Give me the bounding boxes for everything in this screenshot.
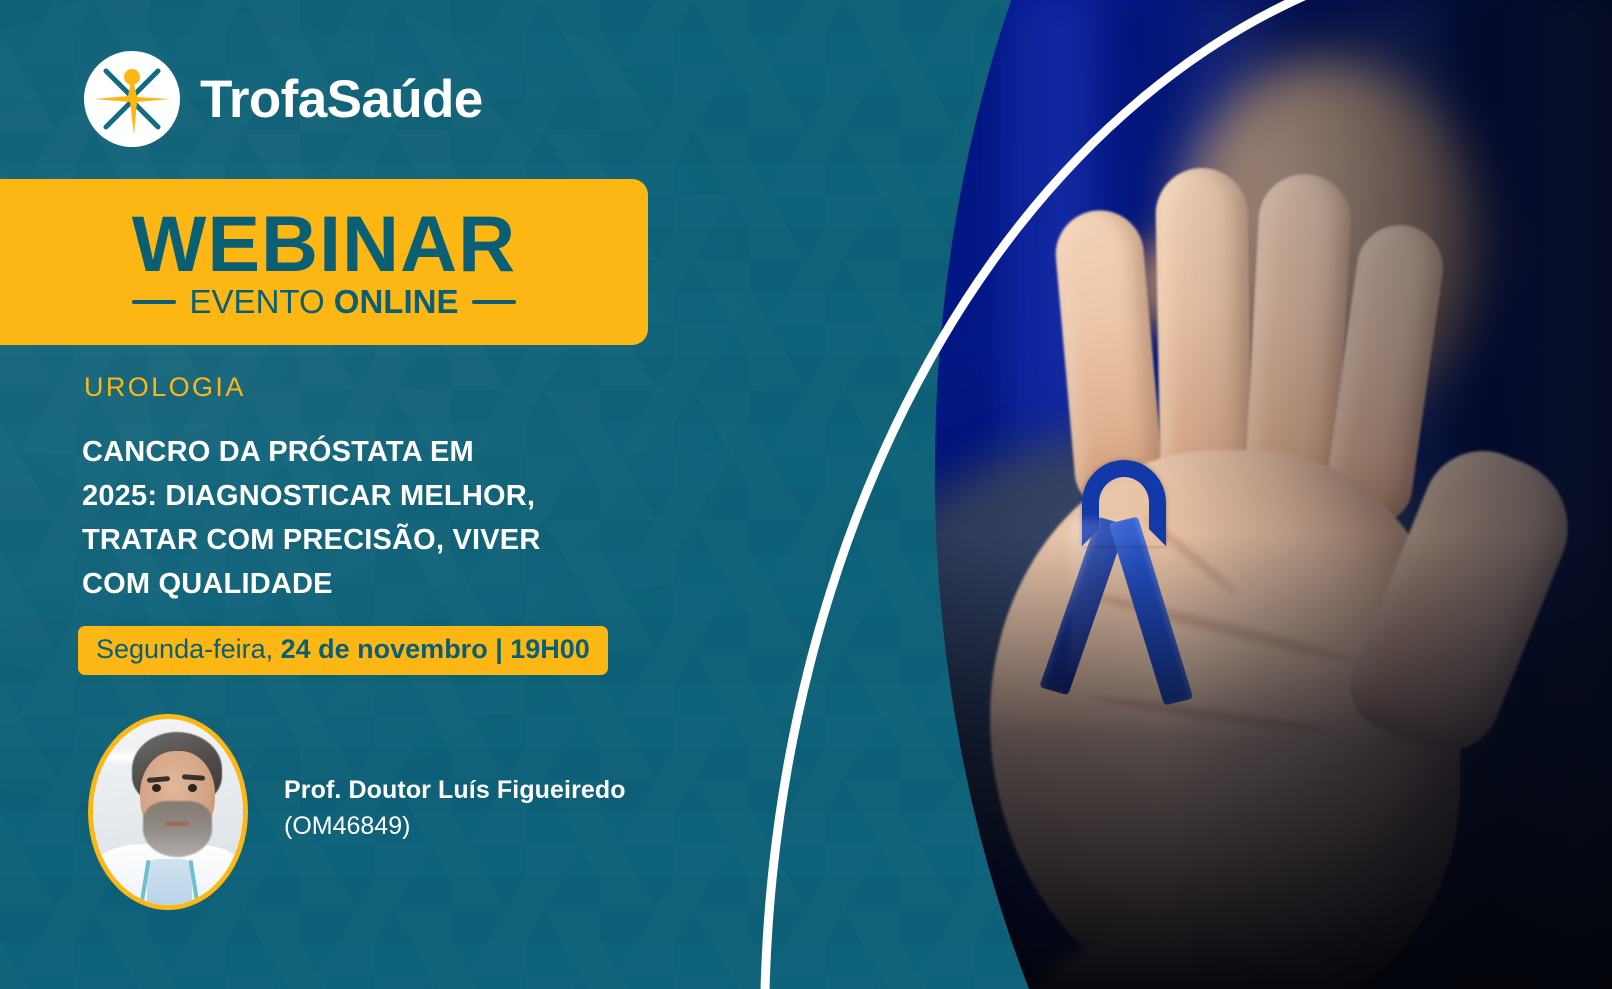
event-mode: ONLINE: [334, 283, 459, 320]
brand-logo: TrofaSaúde: [84, 51, 483, 147]
specialty-label: UROLOGIA: [84, 374, 246, 401]
avatar-beard: [143, 801, 212, 857]
event-mode-row: EVENTO ONLINE: [132, 285, 517, 318]
title-line-3: TRATAR COM PRECISÃO, VIVER: [82, 518, 622, 562]
speaker-avatar: [88, 714, 248, 910]
event-mode-text: EVENTO ONLINE: [190, 285, 459, 318]
webinar-promo-banner: TrofaSaúde WEBINAR EVENTO ONLINE UROLOGI…: [0, 0, 1612, 989]
event-title: CANCRO DA PRÓSTATA EM 2025: DIAGNOSTICAR…: [82, 430, 622, 606]
avatar-eye-left: [152, 784, 161, 792]
webinar-badge: WEBINAR EVENTO ONLINE: [0, 179, 648, 345]
title-line-4: COM QUALIDADE: [82, 562, 622, 606]
speaker-name: Prof. Doutor Luís Figueiredo: [284, 775, 626, 806]
title-line-1: CANCRO DA PRÓSTATA EM: [82, 430, 622, 474]
speaker-registration: (OM46849): [284, 810, 626, 843]
webinar-label: WEBINAR: [132, 206, 516, 281]
avatar-mouth: [165, 821, 189, 826]
dash-left-icon: [132, 300, 176, 304]
brand-name: TrofaSaúde: [200, 73, 483, 126]
date-day-time: 24 de novembro | 19H00: [281, 634, 590, 664]
speaker-text: Prof. Doutor Luís Figueiredo (OM46849): [284, 775, 626, 849]
event-prefix: EVENTO: [190, 283, 334, 320]
trofasaude-starburst-logo-icon: [84, 51, 180, 147]
title-line-2: 2025: DIAGNOSTICAR MELHOR,: [82, 474, 622, 518]
dash-right-icon: [472, 300, 516, 304]
date-weekday: Segunda-feira,: [96, 634, 281, 664]
avatar-shirt: [147, 859, 192, 906]
event-date-badge: Segunda-feira, 24 de novembro | 19H00: [78, 626, 608, 675]
avatar-eye-right: [188, 784, 197, 792]
speaker-block: Prof. Doutor Luís Figueiredo (OM46849): [88, 714, 626, 910]
